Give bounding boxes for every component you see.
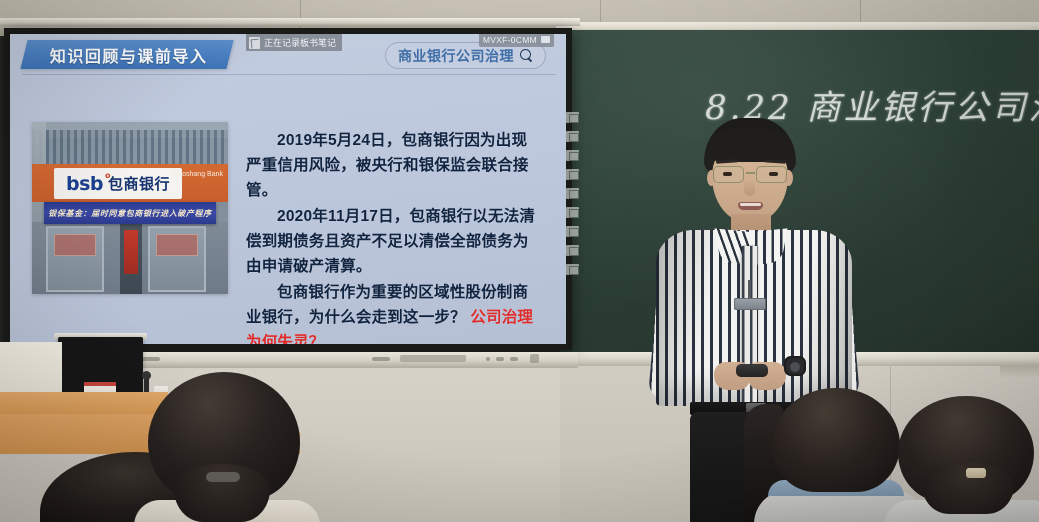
teacher-mouth [738,202,763,210]
slide-paragraph-2: 2020年11月17日，包商银行以无法清偿到期债务且资产不足以清偿全部债务为由申… [246,204,540,279]
session-code-badge: MVXF-0CMM [479,34,554,47]
hair-clip [966,468,986,478]
student-right-girl [892,396,1039,522]
bank-name-en: Baoshang Bank [174,170,223,179]
chalk-ledge-gap [1000,366,1039,378]
photo-door-right [148,226,206,292]
slide-text-block: 2019年5月24日，包商银行因为出现严重信用风险，被央行和银保监会联合接管。 … [246,128,540,344]
recording-badge: 正在记录板书笔记 [246,34,342,51]
slide-paragraph-3: 包商银行作为重要的区域性股份制商业银行，为什么会走到这一步？ 公司治理为何失灵？ [246,280,540,344]
sensor-window [530,354,539,363]
news-banner: 银保基金：届时同意包商银行进入破产程序 [44,202,216,224]
board-icon-3[interactable] [566,150,579,161]
classroom-scene: 8.22 商业银行公司治理 知识回顾与课前导入 正在记录板书笔记 [0,0,1039,522]
bank-photo: bsbo 包商银行 Baoshang Bank 银保基金：届时同意包商银行进入破… [32,122,228,294]
smartboard-display[interactable]: 知识回顾与课前导入 正在记录板书笔记 商业银行公司治理 MVXF-0CMM [4,28,572,350]
board-icon-5[interactable] [566,188,579,199]
display-top-edge [0,18,580,26]
indicator-light-3 [510,357,518,361]
bank-logo-sup: o [105,171,110,180]
bank-logo-text: bsb [66,173,103,195]
teacher-nose [744,180,755,196]
student-right-boy [768,388,904,522]
student-front-left [140,372,308,522]
note-recording-icon [249,37,260,49]
recording-label: 正在记录板书笔记 [264,36,336,49]
teacher-lanyard [748,280,751,300]
board-icon-4[interactable] [566,169,579,180]
slide-paragraph-1: 2019年5月24日，包商银行因为出现严重信用风险，被央行和银保监会联合接管。 [246,128,540,203]
name-badge [734,298,766,310]
bank-name-cn: 包商银行 [108,173,170,194]
slide-header: 知识回顾与课前导入 正在记录板书笔记 商业银行公司治理 MVXF-0CMM [10,34,566,82]
search-icon[interactable] [520,49,533,62]
slide-title-banner: 知识回顾与课前导入 [20,40,233,69]
teacher-hair-front [706,128,794,162]
display-screen[interactable]: 知识回顾与课前导入 正在记录板书笔记 商业银行公司治理 MVXF-0CMM [10,34,566,344]
board-icon-strip [566,112,579,275]
indicator-lights [486,357,490,361]
indicator-light-2 [496,357,504,361]
photo-window-grille [32,130,228,168]
speaker-grille [400,355,466,362]
presenter-clicker[interactable] [736,364,768,377]
board-icon-9[interactable] [566,264,579,275]
board-icon-1[interactable] [566,112,579,123]
session-code-label: MVXF-0CMM [483,35,537,45]
teacher-eye-right [769,172,778,176]
photo-bank-sign: bsbo 包商银行 [54,168,182,199]
photo-door-left [46,226,104,292]
hair-tie [206,472,240,482]
search-value: 商业银行公司治理 [398,46,514,66]
header-divider [22,74,556,75]
board-icon-7[interactable] [566,226,579,237]
slide-body: bsbo 包商银行 Baoshang Bank 银保基金：届时同意包商银行进入破… [10,82,566,344]
glasses-bridge [746,172,755,174]
menu-button[interactable] [372,357,390,361]
board-icon-6[interactable] [566,207,579,218]
bank-logo-bsb: bsbo [66,173,103,195]
wristwatch-icon [784,356,806,376]
photo-center-pillar [120,222,142,294]
screen-cast-icon [541,36,550,43]
board-icon-2[interactable] [566,131,579,142]
student-head [772,388,900,492]
teacher-eye-left [723,172,732,176]
news-banner-text: 银保基金：届时同意包商银行进入破产程序 [48,208,211,219]
slide-title: 知识回顾与课前导入 [50,43,208,67]
board-icon-8[interactable] [566,245,579,256]
